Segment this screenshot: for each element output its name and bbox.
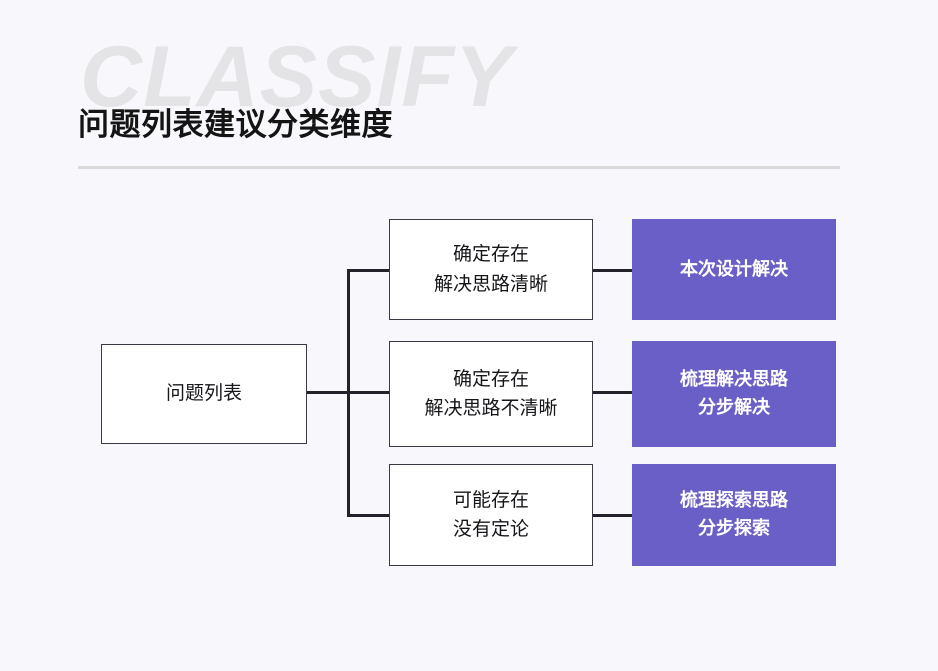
node-result-3-text: 梳理探索思路 分步探索 (680, 487, 788, 543)
node-result-3[interactable]: 梳理探索思路 分步探索 (632, 464, 836, 566)
title-divider (78, 166, 840, 169)
node-condition-1[interactable]: 确定存在 解决思路清晰 (389, 219, 593, 320)
classification-flowchart: 问题列表 确定存在 解决思路清晰 确定存在 解决思路不清晰 可能存在 没有定论 … (0, 180, 938, 671)
node-result-2-text: 梳理解决思路 分步解决 (680, 366, 788, 422)
node-result-2[interactable]: 梳理解决思路 分步解决 (632, 341, 836, 447)
page-header: CLASSIFY 问题列表建议分类维度 (0, 0, 938, 180)
node-condition-3-text: 可能存在 没有定论 (453, 486, 529, 545)
node-condition-2-line-2: 解决思路不清晰 (424, 394, 557, 423)
connector-branch-2 (347, 391, 390, 394)
node-result-2-line-1: 梳理解决思路 (680, 366, 788, 394)
node-result-1-line-1: 本次设计解决 (680, 256, 788, 284)
node-condition-2-text: 确定存在 解决思路不清晰 (424, 365, 557, 424)
node-root-label: 问题列表 (166, 379, 242, 408)
connector-root-stem (307, 391, 349, 394)
page-title: 问题列表建议分类维度 (78, 106, 393, 143)
node-root-problem-list[interactable]: 问题列表 (101, 344, 307, 444)
node-result-1[interactable]: 本次设计解决 (632, 219, 836, 320)
node-condition-1-line-1: 确定存在 (434, 240, 548, 269)
node-condition-2[interactable]: 确定存在 解决思路不清晰 (389, 341, 593, 447)
node-condition-3-line-2: 没有定论 (453, 515, 529, 544)
connector-branch-1 (347, 269, 390, 272)
node-condition-3-line-1: 可能存在 (453, 486, 529, 515)
node-result-2-line-2: 分步解决 (680, 394, 788, 422)
connector-branch-3 (347, 514, 390, 517)
node-result-3-line-1: 梳理探索思路 (680, 487, 788, 515)
connector-result-1 (592, 269, 633, 272)
node-condition-2-line-1: 确定存在 (424, 365, 557, 394)
node-condition-1-text: 确定存在 解决思路清晰 (434, 240, 548, 299)
connector-result-3 (592, 514, 633, 517)
node-condition-3[interactable]: 可能存在 没有定论 (389, 464, 593, 566)
connector-result-2 (592, 391, 633, 394)
node-result-1-text: 本次设计解决 (680, 256, 788, 284)
node-result-3-line-2: 分步探索 (680, 515, 788, 543)
node-condition-1-line-2: 解决思路清晰 (434, 270, 548, 299)
